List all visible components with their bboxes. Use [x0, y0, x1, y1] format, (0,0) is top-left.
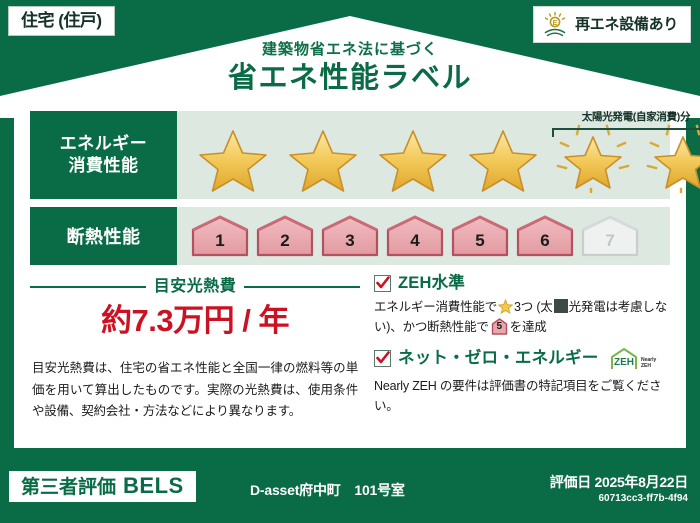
bels-name-label: BELS — [123, 475, 184, 497]
solar-annotation-label: 太陽光発電(自家消費)分 — [551, 112, 700, 124]
utility-cost-heading: 目安光熱費 — [30, 279, 360, 295]
insulation-performance-row: 断熱性能 1 — [30, 207, 670, 265]
insulation-level-number: 1 — [189, 232, 251, 249]
check-icon — [376, 276, 390, 290]
certification-checks: ZEH水準 エネルギー消費性能で 3つ (太光発電は考慮しない)、かつ断熱性能で… — [360, 275, 670, 440]
house-icon: 5 — [491, 318, 508, 335]
insulation-level-number: 7 — [579, 232, 641, 249]
energy-key-line1: エネルギー — [60, 133, 148, 155]
check-item-zeh-standard: ZEH水準 エネルギー消費性能で 3つ (太光発電は考慮しない)、かつ断熱性能で… — [374, 275, 670, 338]
utility-cost-heading-text: 目安光熱費 — [154, 279, 237, 295]
energy-key-line2: 消費性能 — [69, 155, 139, 177]
check-title-net-zero: ネット・ゼロ・エネルギー — [398, 350, 598, 367]
insulation-level-number: 2 — [254, 232, 316, 249]
insulation-level-2: 2 — [254, 214, 316, 258]
insulation-performance-value: 1 2 3 — [177, 207, 670, 265]
insulation-level-1: 1 — [189, 214, 251, 258]
heading-rule-right — [244, 286, 360, 288]
heading-rule-left — [30, 286, 146, 288]
bels-certification-tag: 第三者評価 BELS — [9, 471, 196, 502]
evaluation-info: 評価日 2025年8月22日 60713cc3-ff7b-4f94 — [550, 475, 688, 504]
label-footer: 第三者評価 BELS D-asset府中町 101号室 評価日 2025年8月2… — [0, 461, 700, 523]
renewable-badge-label: 再エネ設備あり — [575, 17, 678, 32]
svg-text:E: E — [553, 20, 558, 27]
check-title-zeh: ZEH水準 — [398, 275, 465, 292]
star-icon — [369, 123, 457, 193]
insulation-level-7: 7 — [579, 214, 641, 258]
solar-annotation-bracket — [552, 128, 700, 137]
sun-icon: E — [542, 11, 568, 37]
energy-performance-key: エネルギー 消費性能 — [30, 111, 177, 199]
building-name: D-asset府中町 101号室 — [250, 483, 405, 497]
star-filled-1 — [189, 123, 277, 193]
star-icon — [279, 123, 367, 193]
star-filled-3 — [369, 123, 457, 193]
renewable-energy-badge: E 再エネ設備あり — [533, 6, 691, 43]
insulation-level-number: 4 — [384, 232, 446, 249]
check-body-zeh: エネルギー消費性能で 3つ (太光発電は考慮しない)、かつ断熱性能で 5 を達成 — [374, 297, 670, 338]
checkbox-checked — [374, 350, 391, 367]
insulation-level-number: 6 — [514, 232, 576, 249]
zeh-body-part2: 3つ (太 — [514, 300, 553, 314]
check-icon — [376, 351, 390, 365]
energy-performance-value: 太陽光発電(自家消費)分 — [177, 111, 700, 199]
energy-performance-label: 住宅 (住戸) E 再エネ設備あり 建築物省エネ法に基づく 省エネ性能ラベル — [0, 0, 700, 523]
insulation-level-scale: 1 2 3 — [177, 214, 641, 258]
label-bottom-section: 目安光熱費 約7.3万円 / 年 目安光熱費は、住宅の省エネ性能と全国一律の燃料… — [30, 275, 670, 440]
housing-type-tag: 住宅 (住戸) — [8, 6, 115, 36]
utility-cost-section: 目安光熱費 約7.3万円 / 年 目安光熱費は、住宅の省エネ性能と全国一律の燃料… — [30, 275, 360, 440]
zeh-logo: ZEH Nearly ZEH — [609, 347, 661, 371]
star-filled-4 — [459, 123, 547, 193]
star-icon — [498, 299, 513, 314]
star-icon — [189, 123, 277, 193]
insulation-performance-key: 断熱性能 — [30, 207, 177, 265]
bels-prefix-label: 第三者評価 — [21, 478, 116, 497]
insulation-level-4: 4 — [384, 214, 446, 258]
checkbox-checked — [374, 275, 391, 292]
zeh-logo-sub2: ZEH — [641, 363, 651, 369]
check-body-net-zero: Nearly ZEH の要件は評価書の特記項目をご覧ください。 — [374, 376, 670, 417]
insulation-level-6: 6 — [514, 214, 576, 258]
evaluation-date: 評価日 2025年8月22日 — [550, 475, 688, 489]
redacted-block — [554, 299, 568, 313]
energy-performance-row: エネルギー 消費性能 太陽光発電(自家消費)分 — [30, 111, 670, 199]
check-item-net-zero-energy: ネット・ゼロ・エネルギー ZEH Nearly ZEH Nearly ZEH の… — [374, 347, 670, 417]
check-head: ZEH水準 — [374, 275, 670, 292]
title-subtitle: 建築物省エネ法に基づく — [0, 42, 700, 57]
insulation-level-5: 5 — [449, 214, 511, 258]
zeh-body-part4: を達成 — [510, 320, 547, 334]
zeh-logo-icon: ZEH Nearly ZEH — [609, 347, 661, 371]
label-title: 建築物省エネ法に基づく 省エネ性能ラベル — [0, 42, 700, 93]
check-head: ネット・ゼロ・エネルギー ZEH Nearly ZEH — [374, 347, 670, 371]
star-filled-2 — [279, 123, 367, 193]
insulation-level-number: 3 — [319, 232, 381, 249]
label-main-card: エネルギー 消費性能 太陽光発電(自家消費)分 — [14, 103, 686, 448]
title-main: 省エネ性能ラベル — [0, 64, 700, 93]
evaluation-id: 60713cc3-ff7b-4f94 — [550, 494, 688, 504]
house-level-number: 5 — [491, 322, 508, 332]
zeh-body-part1: エネルギー消費性能で — [374, 300, 497, 314]
insulation-level-number: 5 — [449, 232, 511, 249]
zeh-logo-text: ZEH — [614, 357, 634, 368]
utility-cost-amount: 約7.3万円 / 年 — [30, 305, 360, 336]
insulation-level-3: 3 — [319, 214, 381, 258]
star-icon — [459, 123, 547, 193]
utility-cost-note: 目安光熱費は、住宅の省エネ性能と全国一律の燃料等の単価を用いて算出したものです。… — [30, 358, 360, 423]
